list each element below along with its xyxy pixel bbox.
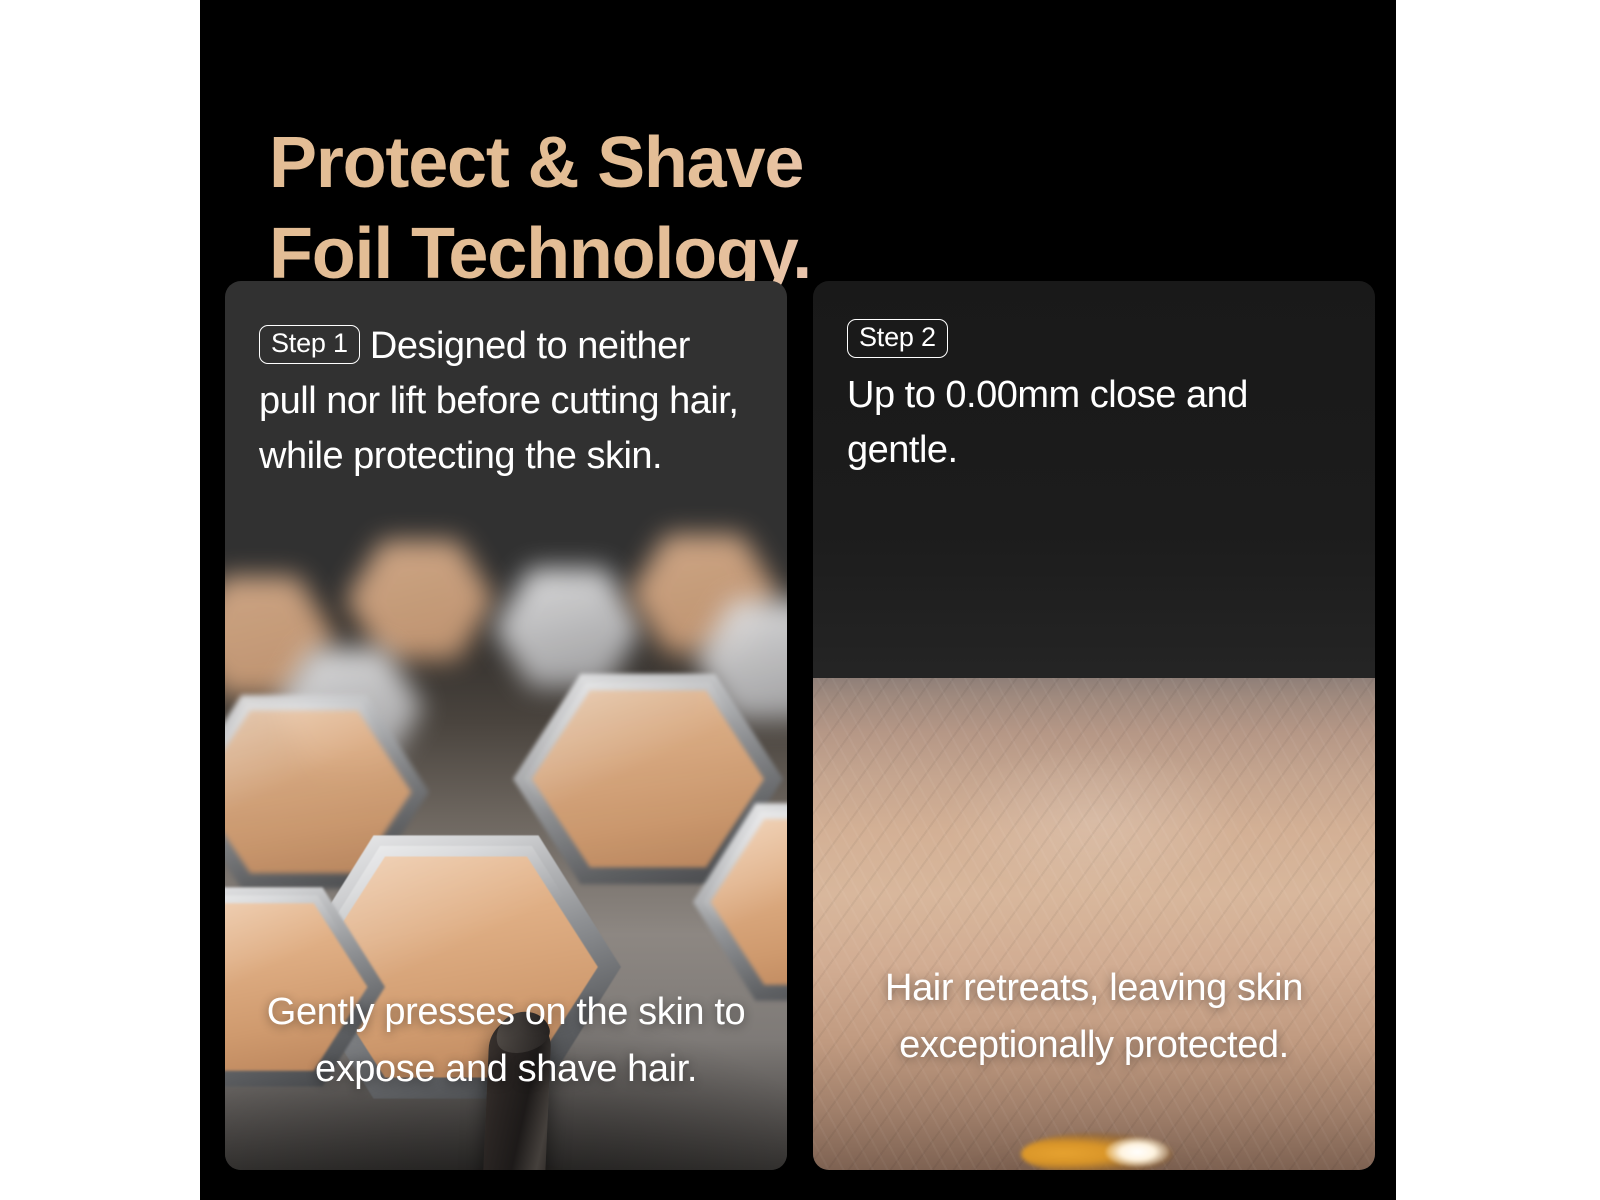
pore-highlight [1106, 1137, 1170, 1167]
skin-surface-illustration [813, 678, 1375, 1170]
page-root: Protect & Shave Foil Technology. [0, 0, 1600, 1200]
step-1-card[interactable]: Step 1Designed to neither pull nor lift … [225, 281, 787, 1170]
page-title: Protect & Shave Foil Technology. [269, 118, 1329, 299]
step-2-card[interactable]: Step 2 Up to 0.00mm close and gentle. Ha… [813, 281, 1375, 1170]
content-panel: Protect & Shave Foil Technology. [200, 0, 1396, 1200]
steps-card-row: Step 1Designed to neither pull nor lift … [225, 281, 1375, 1170]
step-2-headline: Up to 0.00mm close and gentle. [847, 368, 1341, 478]
step-1-header: Step 1Designed to neither pull nor lift … [225, 281, 787, 484]
step-1-badge: Step 1 [259, 325, 360, 364]
step-2-badge: Step 2 [847, 319, 948, 358]
step-2-caption: Hair retreats, leaving skin exceptionall… [813, 960, 1375, 1074]
step-2-header: Step 2 Up to 0.00mm close and gentle. [813, 281, 1375, 478]
step-1-caption: Gently presses on the skin to expose and… [225, 984, 787, 1098]
